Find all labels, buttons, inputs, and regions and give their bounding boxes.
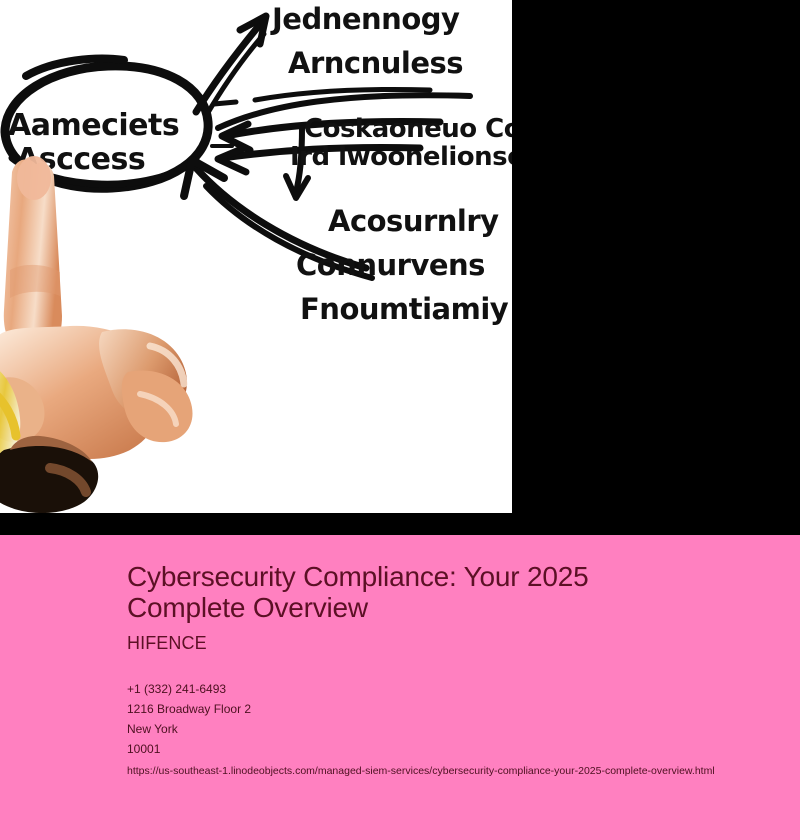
diagram-branch-label-3: Coskaoneuo Cowa: [304, 114, 512, 144]
panel-content: Cybersecurity Compliance: Your 2025 Comp…: [127, 561, 767, 778]
diagram-branch-label-4: Ird lwoonelionse d: [290, 142, 512, 172]
diagram-branch-label-1: Jednennogy: [272, 2, 459, 36]
contact-zip: 10001: [127, 739, 767, 759]
diagram-branch-label-5: Acosurnlry: [328, 204, 499, 238]
diagram-branch-label-7: Fnoumtiamiy: [300, 292, 508, 326]
contact-city: New York: [127, 719, 767, 739]
contact-block: +1 (332) 241-6493 1216 Broadway Floor 2 …: [127, 679, 767, 759]
contact-street: 1216 Broadway Floor 2: [127, 699, 767, 719]
pointing-hand-photo: [0, 150, 230, 513]
hero-banner: Aameciets Asccess: [0, 0, 800, 535]
article-hero-image: Aameciets Asccess: [0, 0, 512, 513]
article-info-panel: Cybersecurity Compliance: Your 2025 Comp…: [0, 535, 800, 840]
article-url[interactable]: https://us-southeast-1.linodeobjects.com…: [127, 764, 767, 778]
brand-name: HIFENCE: [127, 633, 767, 654]
diagram-branch-label-2: Arncnuless: [288, 46, 463, 80]
diagram-center-label-line1: Aameciets: [8, 108, 179, 143]
contact-phone: +1 (332) 241-6493: [127, 679, 767, 699]
diagram-branch-label-6: Connurvens: [296, 248, 485, 282]
page-title: Cybersecurity Compliance: Your 2025 Comp…: [127, 561, 687, 624]
page-root: Aameciets Asccess: [0, 0, 800, 840]
